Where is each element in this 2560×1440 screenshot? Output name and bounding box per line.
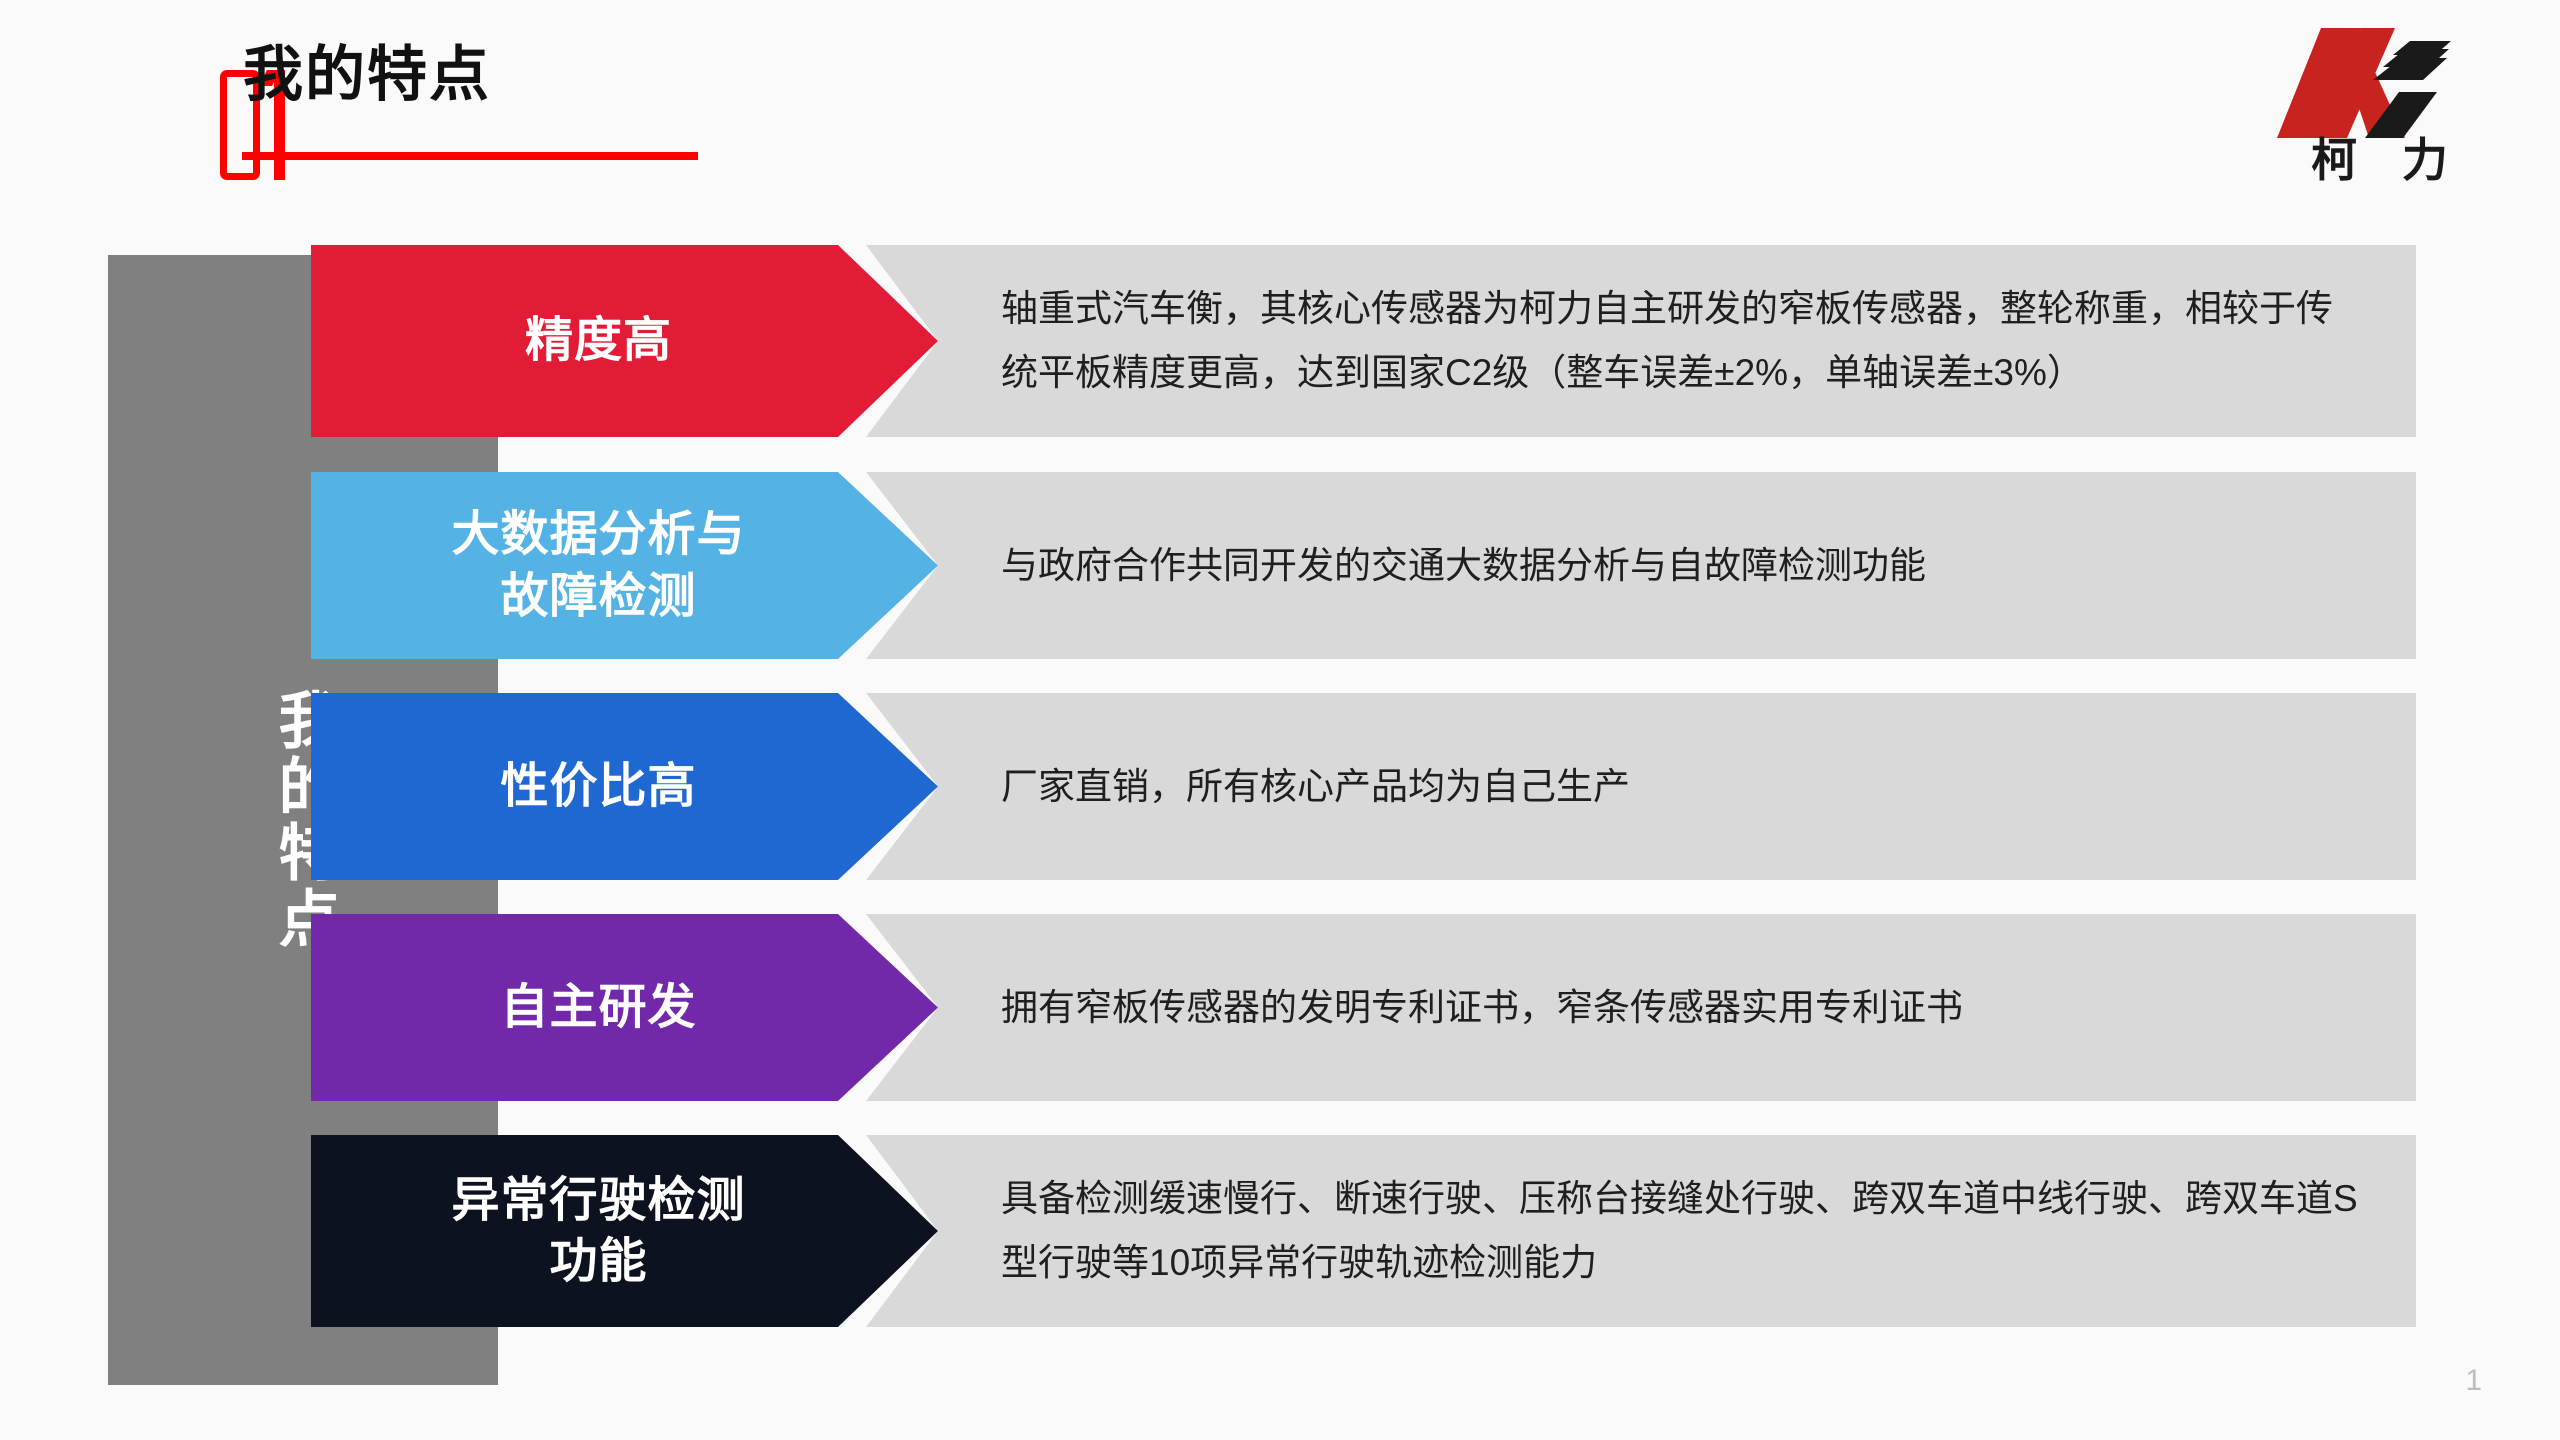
row-chevron-label: 异常行驶检测功能 [451, 1170, 797, 1293]
logo-wordmark: 柯 力 [2277, 134, 2482, 186]
section-number-graphic [108, 32, 188, 157]
row-description-line: 拥有窄板传感器的发明专利证书，窄条传感器实用专利证书 [1001, 976, 2381, 1040]
row-description-line: 厂家直销，所有核心产品均为自己生产 [1001, 755, 2381, 819]
page-title: 我的特点 [243, 38, 491, 112]
row-description-text: 轴重式汽车衡，其核心传感器为柯力自主研发的窄板传感器，整轮称重，相较于传统平板精… [1001, 245, 2381, 437]
row-chevron-5[interactable]: 异常行驶检测功能 [311, 1135, 938, 1327]
row-chevron-label-line: 大数据分析与 [451, 504, 745, 565]
row-chevron-label: 自主研发 [500, 977, 748, 1038]
row-chevron-label-line: 功能 [451, 1231, 745, 1292]
slide-header: 我的特点 柯 力 [0, 0, 2560, 210]
row-chevron-2[interactable]: 大数据分析与故障检测 [311, 472, 938, 659]
row-chevron-label-line: 自主研发 [500, 977, 696, 1038]
row-description-text: 与政府合作共同开发的交通大数据分析与自故障检测功能 [1001, 472, 2381, 659]
company-logo: 柯 力 [2277, 28, 2482, 188]
row-chevron-label: 大数据分析与故障检测 [451, 504, 797, 627]
row-chevron-label: 性价比高 [500, 756, 748, 817]
chevron-row[interactable]: 厂家直销，所有核心产品均为自己生产性价比高 [0, 693, 2560, 880]
row-chevron-4[interactable]: 自主研发 [311, 914, 938, 1101]
row-chevron-1[interactable]: 精度高 [311, 245, 938, 437]
row-chevron-label-line: 精度高 [525, 310, 672, 371]
slide-canvas: 我的特点 柯 力 我的特点 轴重式汽车衡，其核心传感器 [0, 0, 2560, 1440]
keli-k-mark-icon [2277, 28, 2482, 138]
row-chevron-3[interactable]: 性价比高 [311, 693, 938, 880]
row-description-line: 轴重式汽车衡，其核心传感器为柯力自主研发的窄板传感器，整轮称重，相较于传 [1001, 277, 2381, 341]
row-chevron-label: 精度高 [525, 310, 724, 371]
row-chevron-label-line: 故障检测 [451, 566, 745, 627]
chevron-row[interactable]: 与政府合作共同开发的交通大数据分析与自故障检测功能大数据分析与故障检测 [0, 472, 2560, 659]
chevron-row[interactable]: 轴重式汽车衡，其核心传感器为柯力自主研发的窄板传感器，整轮称重，相较于传统平板精… [0, 245, 2560, 437]
row-chevron-label-line: 性价比高 [500, 756, 696, 817]
chevron-row[interactable]: 具备检测缓速慢行、断速行驶、压称台接缝处行驶、跨双车道中线行驶、跨双车道S型行驶… [0, 1135, 2560, 1327]
row-description-line: 具备检测缓速慢行、断速行驶、压称台接缝处行驶、跨双车道中线行驶、跨双车道S [1001, 1167, 2381, 1231]
chevron-row[interactable]: 拥有窄板传感器的发明专利证书，窄条传感器实用专利证书自主研发 [0, 914, 2560, 1101]
row-description-line: 与政府合作共同开发的交通大数据分析与自故障检测功能 [1001, 534, 2381, 598]
row-chevron-label-line: 异常行驶检测 [451, 1170, 745, 1231]
feature-chevron-diagram: 我的特点 轴重式汽车衡，其核心传感器为柯力自主研发的窄板传感器，整轮称重，相较于… [0, 210, 2560, 1440]
row-description-line: 型行驶等10项异常行驶轨迹检测能力 [1001, 1231, 2381, 1295]
row-description-text: 拥有窄板传感器的发明专利证书，窄条传感器实用专利证书 [1001, 914, 2381, 1101]
row-description-text: 具备检测缓速慢行、断速行驶、压称台接缝处行驶、跨双车道中线行驶、跨双车道S型行驶… [1001, 1135, 2381, 1327]
title-underline-rule [242, 152, 698, 160]
row-description-text: 厂家直销，所有核心产品均为自己生产 [1001, 693, 2381, 880]
row-description-line: 统平板精度更高，达到国家C2级（整车误差±2%，单轴误差±3%） [1001, 341, 2381, 405]
page-number: 1 [2465, 1366, 2482, 1396]
